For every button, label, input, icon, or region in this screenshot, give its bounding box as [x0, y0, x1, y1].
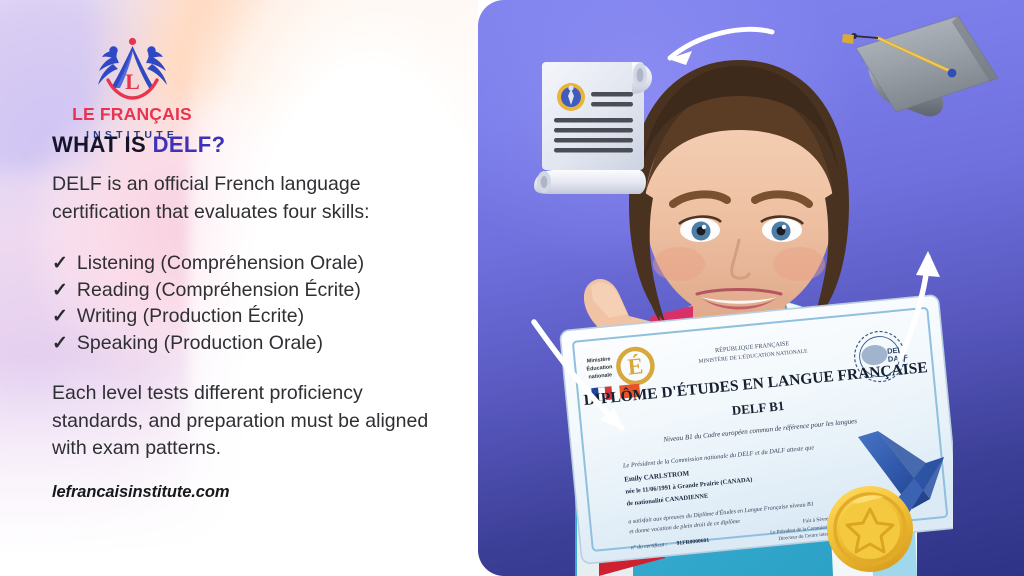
list-item-label: Reading (Compréhension Écrite) [77, 277, 361, 305]
slide-canvas: L LE FRANÇAIS INSTITUTE WHAT IS DELF? DE… [0, 0, 1024, 576]
page-title-part2: DELF? [153, 132, 226, 157]
list-item: ✓ Listening (Compréhension Orale) [52, 250, 452, 277]
skills-checklist: ✓ Listening (Compréhension Orale) ✓ Read… [52, 250, 452, 356]
closing-paragraph: Each level tests different proficiency s… [52, 380, 430, 463]
page-title-part1: WHAT IS [52, 132, 153, 157]
check-icon: ✓ [52, 254, 68, 273]
list-item: ✓ Writing (Production Écrite) [52, 303, 452, 330]
check-icon: ✓ [52, 281, 68, 300]
left-content-panel: L LE FRANÇAIS INSTITUTE WHAT IS DELF? DE… [0, 0, 478, 576]
check-icon: ✓ [52, 334, 68, 353]
intro-paragraph: DELF is an official French language cert… [52, 171, 434, 226]
logo-name-text: LE FRANÇAIS [62, 106, 202, 124]
list-item: ✓ Reading (Compréhension Écrite) [52, 277, 452, 304]
check-icon: ✓ [52, 307, 68, 326]
list-item: ✓ Speaking (Production Orale) [52, 330, 452, 357]
page-title: WHAT IS DELF? [52, 133, 225, 157]
gold-medal-icon [808, 425, 988, 575]
list-item-label: Listening (Compréhension Orale) [77, 250, 364, 278]
graduation-cap-icon [830, 8, 1010, 128]
list-item-label: Writing (Production Écrite) [77, 303, 304, 331]
eiffel-tower-people-logo-icon: L [80, 36, 185, 104]
svg-text:L: L [125, 69, 140, 94]
svg-text:É: É [627, 353, 645, 379]
list-item-label: Speaking (Production Orale) [77, 330, 323, 358]
right-visual-panel: É Ministère Éducation nationale DELF DAL… [478, 0, 1024, 576]
brand-logo: L LE FRANÇAIS INSTITUTE [62, 36, 202, 141]
website-url[interactable]: lefrancaisinstitute.com [52, 483, 229, 502]
scroll-certificate-icon [528, 44, 668, 194]
